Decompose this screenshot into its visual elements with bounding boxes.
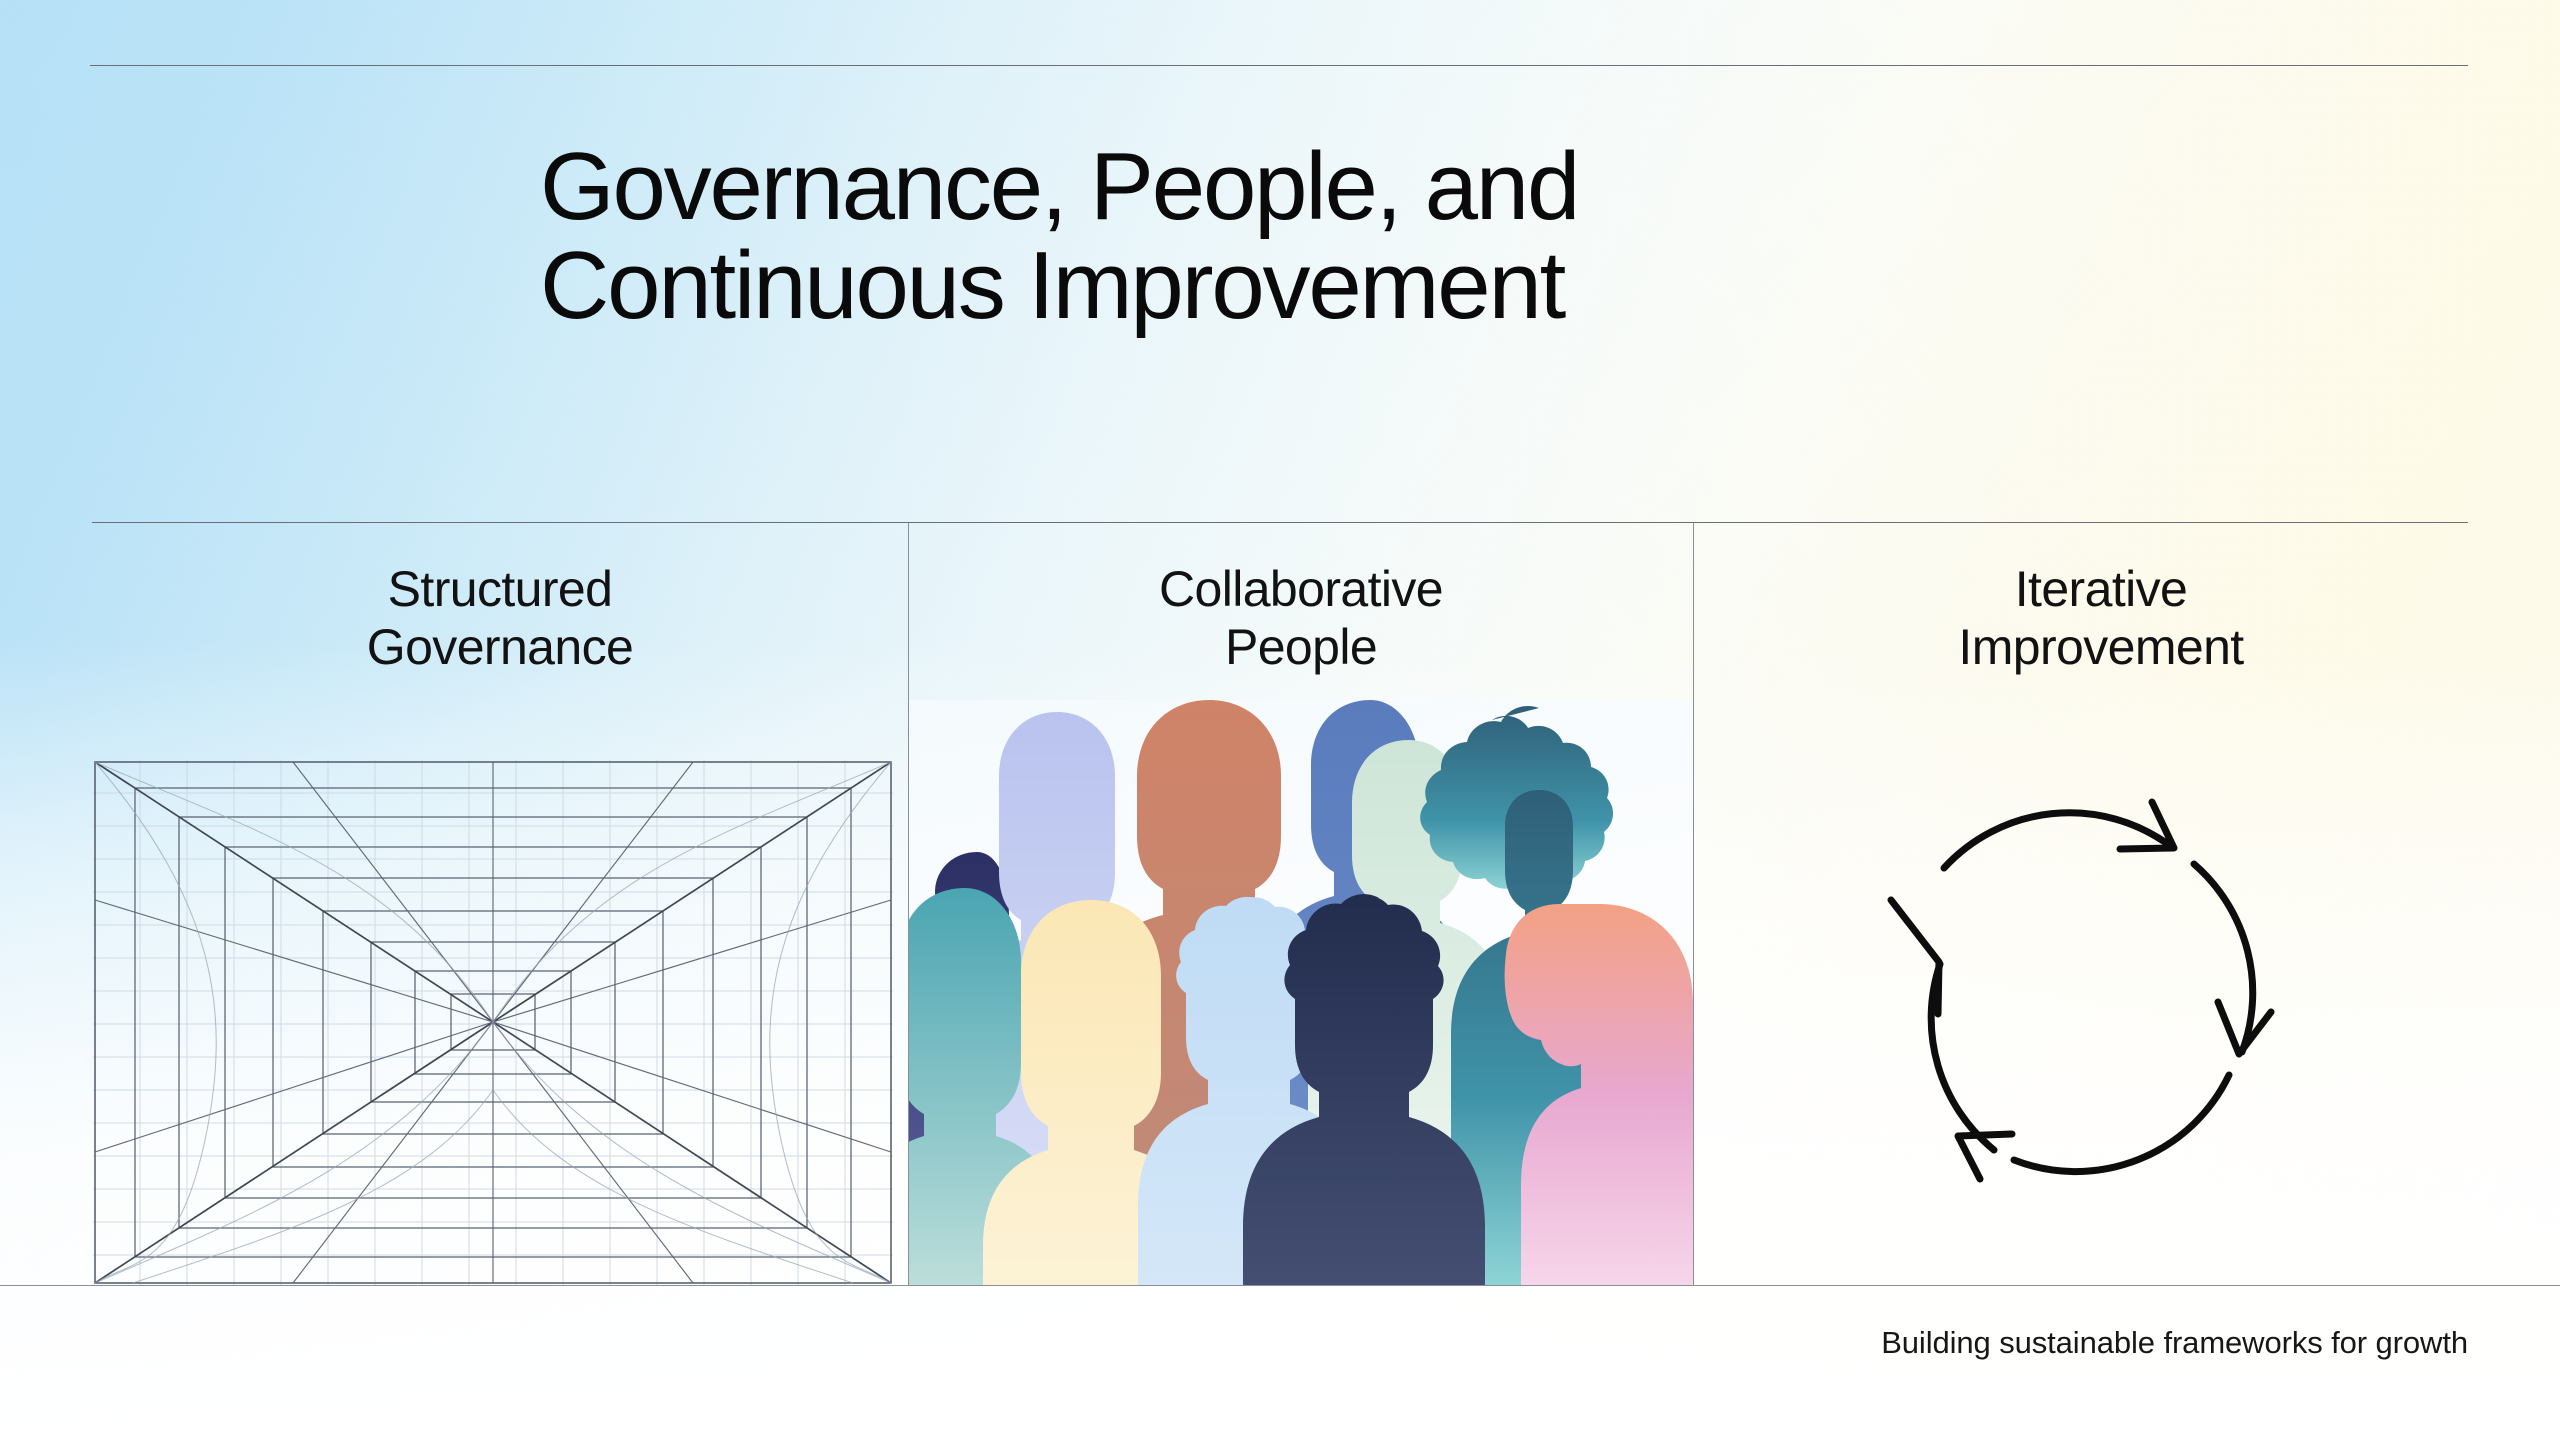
footer-tagline: Building sustainable frameworks for grow… xyxy=(1881,1325,2468,1361)
page-title-line-2: Continuous Improvement xyxy=(540,237,2240,336)
column-heading-1-line-2: Governance xyxy=(92,618,908,676)
footer-divider-rule xyxy=(0,1285,2560,1286)
column-heading-3-line-1: Iterative xyxy=(1694,560,2508,618)
circular-cycle-arrows-icon xyxy=(1694,760,2508,1285)
page-title-line-1: Governance, People, and xyxy=(540,138,2240,237)
column-heading-2-line-2: People xyxy=(909,618,1693,676)
title-divider-rule xyxy=(92,522,2468,523)
column-heading-collaborative-people: Collaborative People xyxy=(909,560,1693,676)
perspective-grid-wireframe-icon xyxy=(93,760,893,1285)
header-rule xyxy=(90,65,2468,66)
column-heading-iterative-improvement: Iterative Improvement xyxy=(1694,560,2508,676)
people-silhouette-group-icon xyxy=(909,700,1693,1285)
column-heading-1-line-1: Structured xyxy=(92,560,908,618)
column-heading-structured-governance: Structured Governance xyxy=(92,560,908,676)
column-heading-2-line-1: Collaborative xyxy=(909,560,1693,618)
page-title: Governance, People, and Continuous Impro… xyxy=(540,138,2240,336)
slide-canvas: Governance, People, and Continuous Impro… xyxy=(0,0,2560,1440)
column-heading-3-line-2: Improvement xyxy=(1694,618,2508,676)
